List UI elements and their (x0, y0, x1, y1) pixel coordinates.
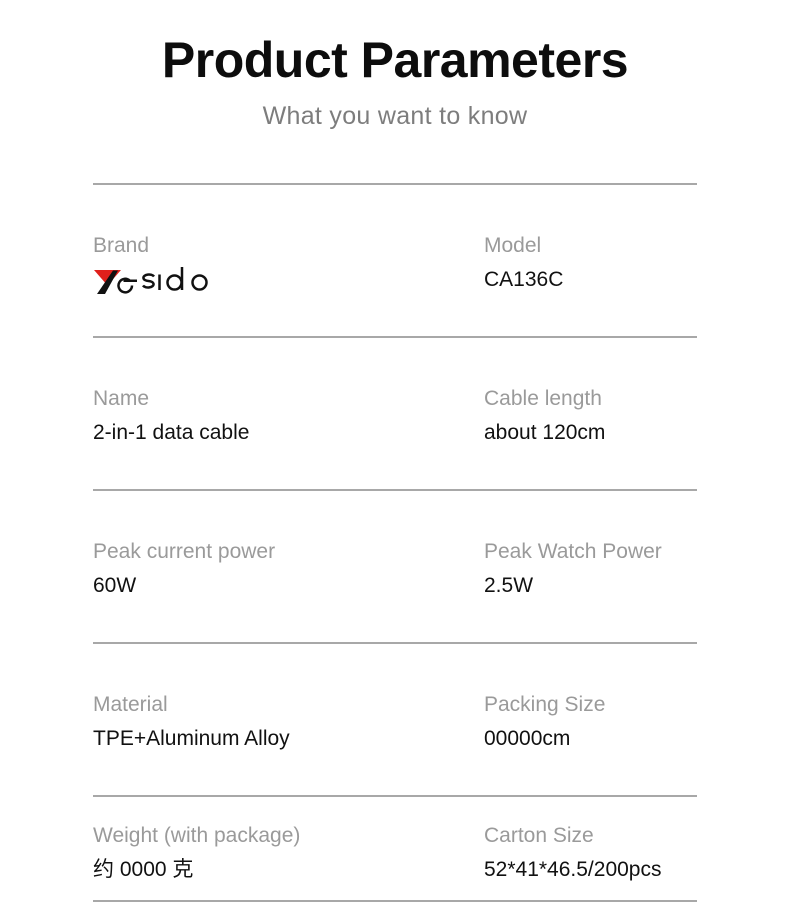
table-row: Brand (93, 185, 697, 336)
spec-cell-packing-size: Packing Size 00000cm (484, 644, 697, 753)
spec-label: Brand (93, 233, 484, 259)
page-header: Product Parameters What you want to know (0, 0, 790, 130)
spec-value: 2.5W (484, 572, 697, 599)
spec-cell-carton-size: Carton Size 52*41*46.5/200pcs (484, 797, 697, 884)
spec-label: Cable length (484, 386, 697, 412)
spec-cell-model: Model CA136C (484, 185, 697, 294)
product-parameters-page: Product Parameters What you want to know… (0, 0, 790, 900)
spec-value: TPE+Aluminum Alloy (93, 725, 484, 752)
page-subtitle: What you want to know (0, 103, 790, 131)
table-row: Name 2-in-1 data cable Cable length abou… (93, 338, 697, 489)
spec-value: CA136C (484, 266, 697, 293)
spec-value: about 120cm (484, 419, 697, 446)
spec-label: Material (93, 692, 484, 718)
spec-label: Peak Watch Power (484, 539, 697, 565)
spec-value: 60W (93, 572, 484, 599)
spec-cell-brand: Brand (93, 185, 484, 295)
spec-cell-peak-watch-power: Peak Watch Power 2.5W (484, 491, 697, 600)
spec-value: 52*41*46.5/200pcs (484, 856, 697, 883)
spec-label: Weight (with package) (93, 823, 484, 849)
spec-value: 00000cm (484, 725, 697, 752)
spec-value: 2-in-1 data cable (93, 419, 484, 446)
table-row: Weight (with package) 约 0000 克 Carton Si… (93, 797, 697, 900)
spec-cell-peak-current-power: Peak current power 60W (93, 491, 484, 600)
spec-label: Carton Size (484, 823, 697, 849)
table-row: Peak current power 60W Peak Watch Power … (93, 491, 697, 642)
spec-cell-weight: Weight (with package) 约 0000 克 (93, 797, 484, 884)
spec-label: Model (484, 233, 697, 259)
yesido-logo (93, 263, 484, 295)
spec-label: Peak current power (93, 539, 484, 565)
spec-label: Packing Size (484, 692, 697, 718)
spec-cell-name: Name 2-in-1 data cable (93, 338, 484, 447)
spec-cell-cable-length: Cable length about 120cm (484, 338, 697, 447)
spec-table: Brand (93, 183, 697, 902)
table-row: Material TPE+Aluminum Alloy Packing Size… (93, 644, 697, 795)
spec-cell-material: Material TPE+Aluminum Alloy (93, 644, 484, 753)
spec-value: 约 0000 克 (93, 856, 484, 883)
page-title: Product Parameters (0, 34, 790, 87)
spec-label: Name (93, 386, 484, 412)
